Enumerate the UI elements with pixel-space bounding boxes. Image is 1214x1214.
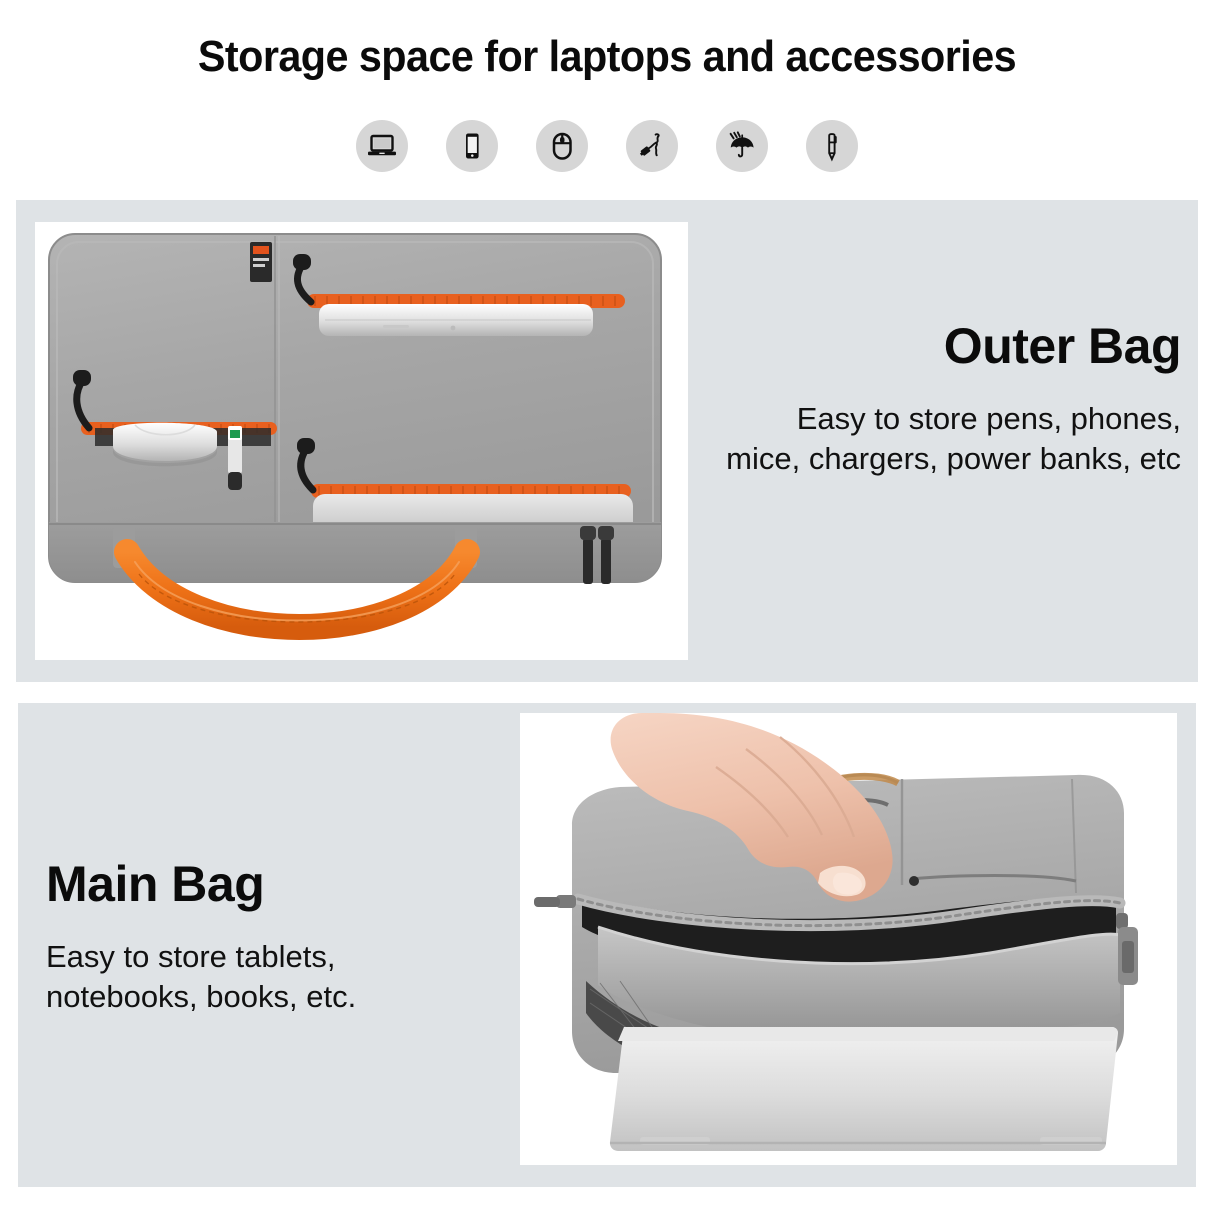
outer-bag-heading: Outer Bag: [716, 320, 1181, 373]
outer-bag-description: Easy to store pens, phones, mice, charge…: [716, 399, 1181, 481]
feature-icon-strip: [0, 120, 1214, 172]
mouse-icon: [536, 120, 588, 172]
umbrella-icon: [716, 120, 768, 172]
main-bag-panel: Main Bag Easy to store tablets, notebook…: [18, 703, 1196, 1187]
main-bag-description: Easy to store tablets, notebooks, books,…: [46, 937, 476, 1019]
main-bag-heading: Main Bag: [46, 858, 476, 911]
outer-bag-photo: [35, 222, 688, 660]
outer-bag-panel: Outer Bag Easy to store pens, phones, mi…: [16, 200, 1198, 682]
charger-icon: [626, 120, 678, 172]
laptop-icon: [356, 120, 408, 172]
page-title: Storage space for laptops and accessorie…: [36, 34, 1177, 80]
main-bag-text: Main Bag Easy to store tablets, notebook…: [46, 858, 476, 1018]
pen-icon: [806, 120, 858, 172]
main-bag-photo: [520, 713, 1177, 1165]
phone-icon: [446, 120, 498, 172]
outer-bag-text: Outer Bag Easy to store pens, phones, mi…: [716, 320, 1181, 480]
